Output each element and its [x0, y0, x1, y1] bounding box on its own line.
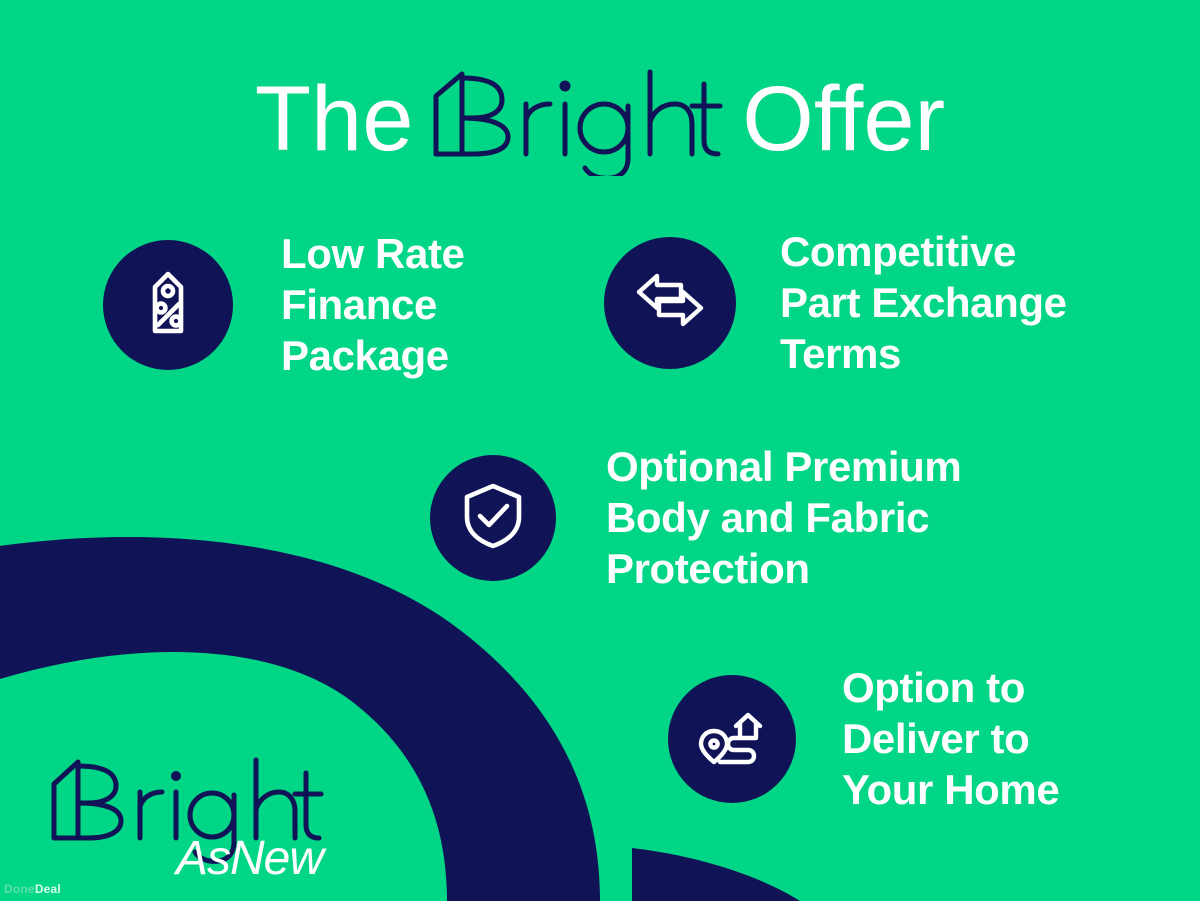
headline-brand-wordmark	[428, 66, 728, 180]
price-tag-percent-icon	[131, 265, 205, 344]
watermark-part-one: Done	[4, 882, 35, 896]
benefit-item-protection: Optional Premium Body and Fabric Protect…	[430, 441, 961, 594]
benefit-icon-container	[668, 675, 796, 803]
benefit-label: Option to Deliver to Your Home	[842, 662, 1059, 815]
brand-logo: AsNew	[48, 752, 378, 882]
navy-bottom-wedge	[632, 848, 800, 901]
benefit-icon-container	[604, 237, 736, 369]
map-pin-route-house-icon	[694, 698, 770, 779]
exchange-arrows-icon	[632, 262, 708, 343]
benefit-icon-container	[430, 455, 556, 581]
benefit-item-part-exchange: Competitive Part Exchange Terms	[604, 226, 1067, 379]
headline-suffix: Offer	[742, 68, 945, 170]
logo-asnew-wordmark: AsNew	[173, 832, 327, 882]
shield-check-icon	[457, 479, 529, 556]
watermark-part-two: Deal	[35, 882, 61, 896]
benefit-icon-container	[103, 240, 233, 370]
benefit-label: Competitive Part Exchange Terms	[780, 226, 1067, 379]
headline-prefix: The	[255, 68, 414, 170]
page-title: The	[0, 62, 1200, 176]
benefit-item-home-delivery: Option to Deliver to Your Home	[668, 662, 1059, 815]
benefit-item-low-rate-finance: Low Rate Finance Package	[103, 228, 464, 381]
donedeal-watermark: DoneDeal	[4, 882, 61, 896]
offer-graphic: The	[0, 0, 1200, 901]
benefit-label: Low Rate Finance Package	[281, 228, 464, 381]
benefit-label: Optional Premium Body and Fabric Protect…	[606, 441, 961, 594]
